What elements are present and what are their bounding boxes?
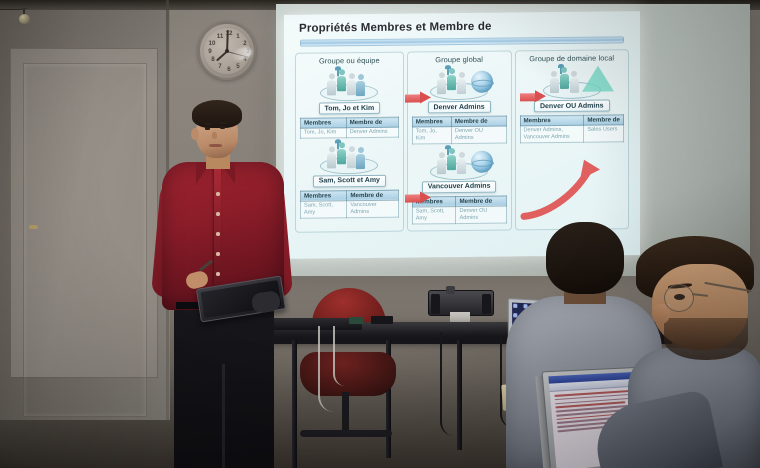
clock-numeral: 7 bbox=[215, 64, 225, 70]
door[interactable] bbox=[10, 48, 158, 378]
person-icon bbox=[457, 72, 466, 94]
group-block: Denver OU Admins Membres Membre de Denve… bbox=[520, 64, 625, 143]
cell-members: Denver Admins, Vancouver Admins bbox=[520, 125, 584, 143]
membership-table: Membres Membre de Tom, Jo, Kim Denver OU… bbox=[412, 116, 507, 145]
column-heading: Groupe global bbox=[412, 55, 507, 65]
person-icon bbox=[327, 146, 336, 168]
shirt-button bbox=[216, 232, 220, 236]
wall-clock: 12 1 2 3 4 5 6 7 8 9 10 11 bbox=[198, 22, 256, 80]
person-icon bbox=[347, 146, 356, 168]
group-block: Denver Admins Membres Membre de Tom, Jo,… bbox=[412, 66, 507, 145]
shirt-button bbox=[216, 272, 220, 276]
clock-center-pin bbox=[225, 49, 229, 53]
group-label: Sam, Scott et Amy bbox=[313, 175, 386, 188]
cable-white bbox=[318, 326, 334, 412]
presenter-eye bbox=[220, 126, 225, 129]
clock-numeral: 5 bbox=[233, 64, 243, 70]
person-icon bbox=[327, 73, 336, 95]
eyeglasses-icon bbox=[664, 284, 694, 312]
slide-title-bar bbox=[300, 36, 624, 46]
cell-member-of: Denver OU Admins bbox=[456, 206, 506, 223]
table-header-membre-de: Membre de bbox=[584, 115, 624, 125]
group-label: Vancouver Admins bbox=[422, 181, 497, 194]
slide-column-groupe-ou-equipe: Groupe ou équipe Tom, Jo et Kim bbox=[295, 52, 404, 233]
room-scene: 12 1 2 3 4 5 6 7 8 9 10 11 Propriétés Me… bbox=[0, 0, 760, 468]
people-group-icon bbox=[300, 140, 399, 175]
curved-flow-arrow-icon bbox=[520, 157, 606, 222]
shirt-button bbox=[216, 252, 220, 256]
cell-members: Sam, Scott, Amy bbox=[412, 207, 456, 224]
person-icon bbox=[560, 67, 569, 89]
people-group-icon bbox=[412, 146, 507, 181]
office-chair-seat[interactable] bbox=[300, 352, 396, 396]
person-icon bbox=[457, 152, 466, 174]
group-label: Tom, Jo et Kim bbox=[319, 102, 381, 115]
cell-member-of: Denver OU Admins bbox=[451, 126, 506, 144]
desk-device-black bbox=[371, 316, 393, 324]
table-header-membres: Membres bbox=[412, 117, 451, 127]
attendee-beard bbox=[664, 318, 748, 360]
membership-table: Membres Membre de Sam, Scott, Amy Vancou… bbox=[300, 190, 399, 219]
presenter-eyebrow bbox=[219, 122, 227, 124]
attendee-head bbox=[546, 222, 624, 294]
person-icon bbox=[550, 71, 559, 93]
presenter-hair bbox=[192, 100, 242, 128]
column-heading: Groupe ou équipe bbox=[300, 56, 399, 66]
trouser-crease bbox=[222, 364, 225, 468]
presenter-person bbox=[148, 96, 308, 468]
door-handle-icon[interactable] bbox=[29, 225, 38, 229]
person-icon bbox=[570, 71, 579, 93]
table-header-membre-de: Membre de bbox=[456, 196, 506, 207]
presenter-ear bbox=[191, 128, 199, 140]
group-block: Sam, Scott et Amy Membres Membre de Sam,… bbox=[300, 140, 399, 219]
table-row: Sam, Scott, Amy Denver OU Admins bbox=[412, 206, 506, 224]
cell-member-of: Vancouver Admins bbox=[347, 200, 398, 218]
group-block: Tom, Jo et Kim Membres Membre de Tom, Jo… bbox=[300, 67, 399, 139]
shirt-button bbox=[216, 192, 220, 196]
lamp-bulb bbox=[19, 14, 30, 24]
person-icon bbox=[437, 152, 446, 174]
flow-arrow-icon bbox=[520, 90, 546, 103]
clock-numeral: 11 bbox=[215, 34, 225, 40]
table-header-membre-de: Membre de bbox=[347, 190, 398, 201]
slide-body: Groupe ou équipe Tom, Jo et Kim bbox=[292, 49, 632, 232]
cable-black bbox=[440, 332, 454, 436]
flow-arrow-icon bbox=[405, 191, 431, 204]
group-label: Denver Admins bbox=[428, 101, 491, 114]
presenter-eyebrow bbox=[204, 123, 212, 125]
cell-members: Tom, Jo, Kim bbox=[412, 127, 451, 144]
globe-icon bbox=[471, 71, 493, 93]
pyramid-icon bbox=[582, 65, 614, 91]
column-heading: Groupe de domaine local bbox=[520, 53, 625, 63]
person-icon bbox=[337, 69, 346, 91]
clock-numeral: 9 bbox=[205, 49, 215, 55]
table-row: Tom, Jo, Kim Denver OU Admins bbox=[412, 126, 506, 144]
table-row: Sam, Scott, Amy Vancouver Admins bbox=[301, 200, 399, 218]
flow-arrow-icon bbox=[405, 91, 431, 104]
clock-numeral: 10 bbox=[207, 41, 217, 47]
clock-numeral: 6 bbox=[224, 67, 234, 73]
table-row: Denver Admins, Vancouver Admins Sales Us… bbox=[520, 125, 624, 143]
person-icon bbox=[437, 72, 446, 94]
table-header-membre-de: Membre de bbox=[451, 116, 506, 127]
presenter-eye bbox=[205, 127, 210, 130]
cell-member-of: Denver Admins bbox=[346, 127, 398, 138]
person-icon bbox=[447, 148, 456, 170]
door-panel bbox=[23, 63, 147, 417]
table-header-membres: Membres bbox=[520, 115, 584, 126]
group-block: Vancouver Admins Membres Membre de Sam, … bbox=[412, 146, 507, 225]
presenter-nose bbox=[212, 132, 217, 139]
globe-icon bbox=[471, 151, 493, 173]
slide-title: Propriétés Membres et Membre de bbox=[299, 19, 632, 34]
person-icon bbox=[356, 147, 365, 169]
people-group-icon bbox=[300, 67, 399, 102]
person-icon bbox=[447, 68, 456, 90]
membership-table: Membres Membre de Tom, Jo, Kim Denver Ad… bbox=[300, 117, 399, 139]
table-row: Tom, Jo, Kim Denver Admins bbox=[301, 127, 399, 138]
person-icon bbox=[337, 142, 346, 164]
shirt-button bbox=[216, 212, 220, 216]
desk-leg bbox=[457, 340, 462, 450]
cable-white bbox=[333, 326, 345, 386]
table-header-membre-de: Membre de bbox=[346, 117, 398, 128]
person-icon bbox=[347, 73, 356, 95]
mount-knob[interactable] bbox=[446, 286, 455, 294]
desk-device-green bbox=[349, 317, 363, 324]
clock-numeral: 1 bbox=[233, 34, 243, 40]
presenter-mouth bbox=[209, 144, 222, 147]
cell-member-of: Sales Users bbox=[584, 125, 624, 142]
ceiling-lamp-icon bbox=[17, 8, 31, 24]
person-icon bbox=[356, 74, 365, 96]
membership-table: Membres Membre de Denver Admins, Vancouv… bbox=[520, 114, 625, 143]
office-chair-base bbox=[300, 430, 392, 437]
